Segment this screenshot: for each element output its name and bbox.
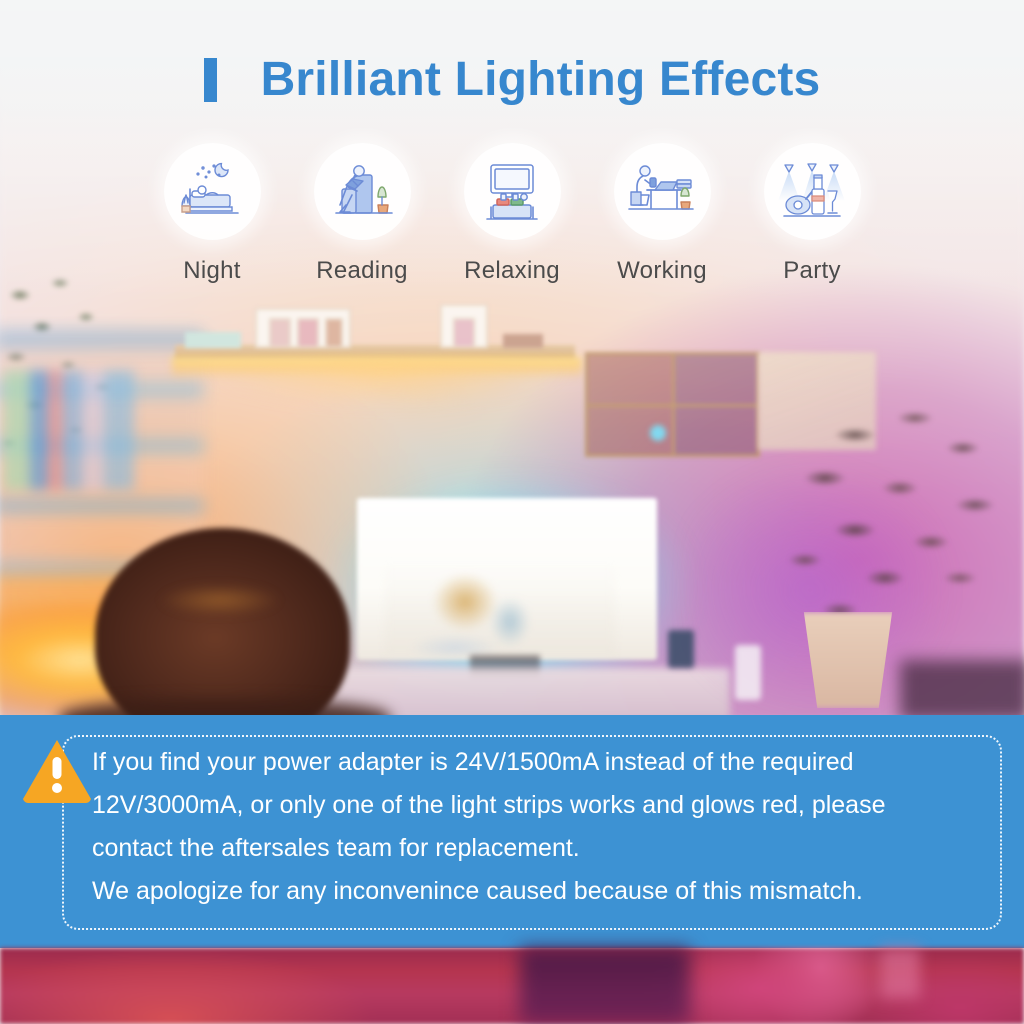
picture-frames xyxy=(255,300,585,348)
effect-icon-circle-reading xyxy=(314,143,411,240)
notice-line-1: If you find your power adapter is 24V/15… xyxy=(92,741,952,784)
white-decor-object xyxy=(735,645,761,700)
product-infographic: Brilliant Lighting Effects xyxy=(0,0,1024,1024)
lighting-effects-list: Night xyxy=(0,143,1024,285)
effect-item-night[interactable]: Night xyxy=(152,143,272,285)
shelf-led-glow xyxy=(150,360,620,450)
notice-text: If you find your power adapter is 24V/15… xyxy=(92,741,952,913)
effect-icon-circle-relaxing xyxy=(464,143,561,240)
notice-line-2: 12V/3000mA, or only one of the light str… xyxy=(92,784,952,827)
effect-item-relaxing[interactable]: Relaxing xyxy=(452,143,572,285)
warning-notice-banner: If you find your power adapter is 24V/15… xyxy=(0,715,1024,948)
effect-item-working[interactable]: Working xyxy=(602,143,722,285)
night-bed-moon-icon xyxy=(176,162,248,222)
effect-label-working: Working xyxy=(617,257,707,285)
room-scene-photo xyxy=(0,0,1024,720)
books-left xyxy=(4,370,134,490)
party-guitar-bottle-spotlight-icon xyxy=(776,161,848,223)
effect-icon-circle-night xyxy=(164,143,261,240)
effect-label-reading: Reading xyxy=(316,257,408,285)
relaxing-tv-sofa-icon xyxy=(477,161,547,223)
page-title-row: Brilliant Lighting Effects xyxy=(0,56,1024,104)
person-hair-highlight xyxy=(140,575,300,625)
tv-screen-content xyxy=(385,560,615,656)
notice-line-4: We apologize for any inconvenince caused… xyxy=(92,870,952,913)
title-accent-bar xyxy=(204,58,217,102)
effect-label-night: Night xyxy=(183,257,241,285)
dark-furniture-right xyxy=(900,660,1024,720)
working-desk-laptop-icon xyxy=(625,162,699,222)
notice-line-3: contact the aftersales team for replacem… xyxy=(92,827,952,870)
blue-vase xyxy=(668,630,694,668)
effect-icon-circle-working xyxy=(614,143,711,240)
effect-label-relaxing: Relaxing xyxy=(464,257,560,285)
effect-label-party: Party xyxy=(783,257,841,285)
reading-person-book-icon xyxy=(326,161,398,223)
effect-item-party[interactable]: Party xyxy=(752,143,872,285)
page-title: Brilliant Lighting Effects xyxy=(261,56,821,104)
sofa-photo-bottom xyxy=(0,948,1024,1024)
effect-item-reading[interactable]: Reading xyxy=(302,143,422,285)
warning-triangle-icon xyxy=(20,737,94,803)
sofa-backlight xyxy=(880,948,920,998)
effect-icon-circle-party xyxy=(764,143,861,240)
sofa-shadow-fold xyxy=(520,948,690,1024)
cube-blue-light xyxy=(650,425,666,441)
